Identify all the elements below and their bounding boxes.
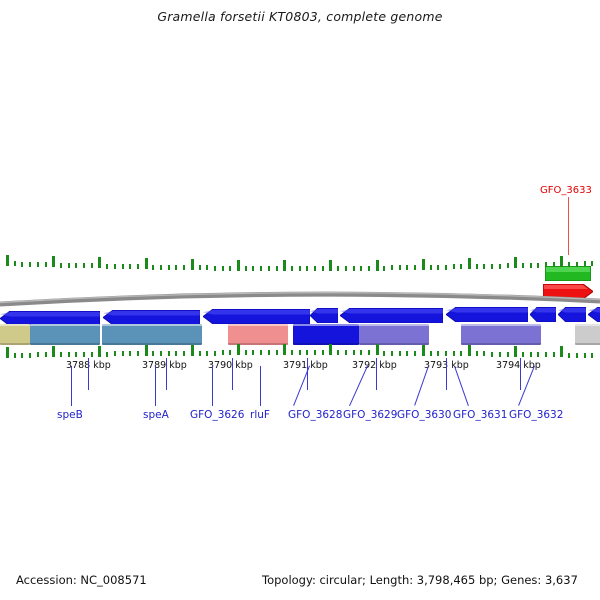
- ruler-tick-line: [88, 358, 89, 390]
- gene-label-gfo_3632[interactable]: GFO_3632: [509, 409, 563, 421]
- ruler-label: 3791 kbp: [283, 360, 328, 371]
- ruler-label: 3790 kbp: [208, 360, 253, 371]
- gene-label-spea[interactable]: speA: [143, 409, 169, 421]
- gene-label-leader-line: [71, 366, 72, 406]
- gene-label-gfo_3626[interactable]: GFO_3626: [190, 409, 244, 421]
- gene-label-leader-line: [260, 366, 261, 406]
- gene-label-leader-line: [155, 366, 156, 406]
- gene-label-leader-line: [212, 366, 213, 406]
- ruler-label: 3789 kbp: [142, 360, 187, 371]
- gene-label-rluf[interactable]: rluF: [250, 409, 270, 421]
- gene-label-gfo_3631[interactable]: GFO_3631: [453, 409, 507, 421]
- gene-label-gfo_3628[interactable]: GFO_3628: [288, 409, 342, 421]
- ruler-tick-line: [446, 358, 447, 390]
- ruler-tick-line: [307, 358, 308, 390]
- ruler-tick-line: [166, 358, 167, 390]
- status-accession: Accession: NC_008571: [16, 573, 147, 587]
- gene-label-leader-line: [349, 365, 368, 406]
- ruler-label: 3792 kbp: [352, 360, 397, 371]
- gene-label-speb[interactable]: speB: [57, 409, 83, 421]
- gene-label-leader-line: [414, 366, 429, 406]
- gene-label-gfo_3630[interactable]: GFO_3630: [397, 409, 451, 421]
- ruler-layer: 3788 kbp3789 kbp3790 kbp3791 kbp3792 kbp…: [0, 0, 600, 600]
- status-summary: Topology: circular; Length: 3,798,465 bp…: [262, 573, 578, 587]
- gene-label-leader-line: [454, 366, 469, 406]
- gene-label-gfo_3629[interactable]: GFO_3629: [343, 409, 397, 421]
- sequence-viewer-canvas: Gramella forsetii KT0803, complete genom…: [0, 0, 600, 600]
- ruler-tick-line: [232, 358, 233, 390]
- ruler-tick-line: [376, 358, 377, 390]
- ruler-tick-line: [520, 358, 521, 390]
